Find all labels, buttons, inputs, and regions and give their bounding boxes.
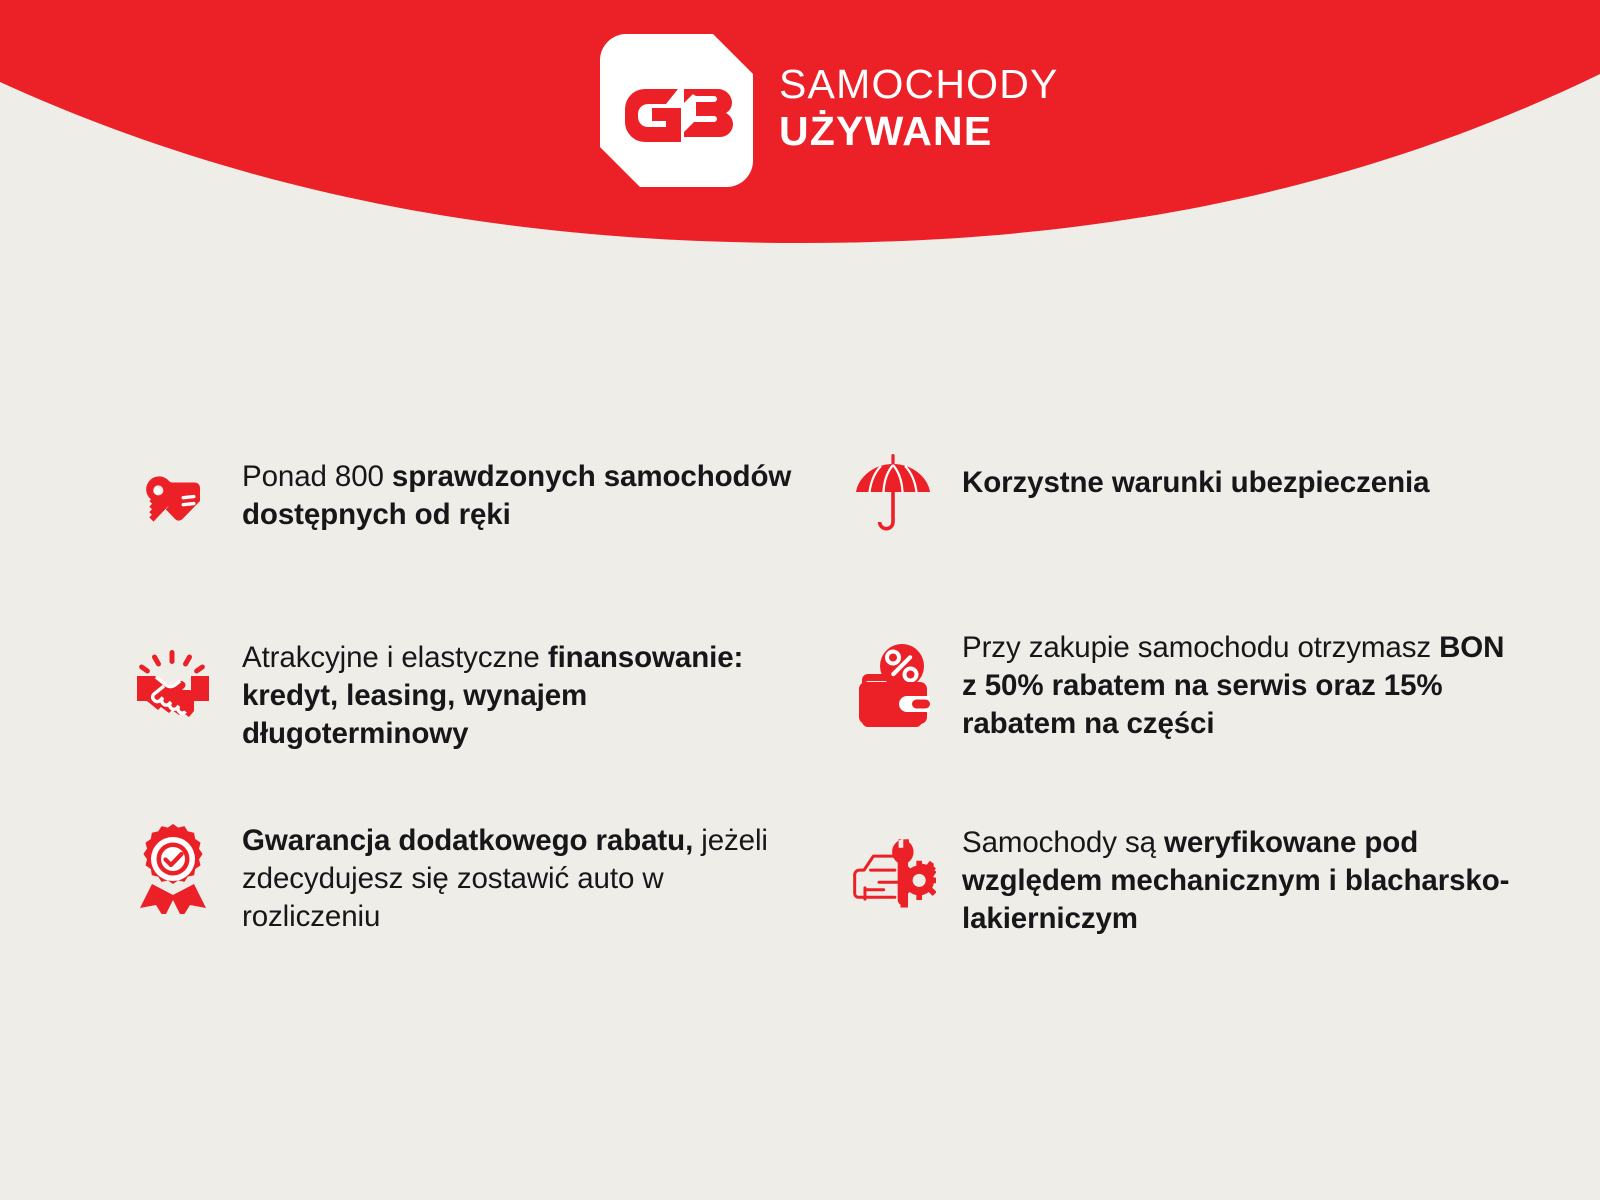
benefit-text-segment: Atrakcyjne i elastyczne [242,641,548,674]
benefit-item: Samochody są weryfikowane pod względem m… [850,810,1570,995]
award-rosette-check-icon [130,820,216,916]
benefit-item: Korzystne warunki ubezpieczenia [850,440,1570,625]
benefit-text-segment: Korzystne warunki ubezpieczenia [962,466,1429,499]
benefit-item: Gwarancja dodatkowego rabatu, jeżeli zde… [130,810,850,995]
benefit-text: Przy zakupie samochodu otrzymasz BON z 5… [962,627,1522,743]
benefit-text-segment: Przy zakupie samochodu otrzymasz [962,631,1439,664]
handshake-icon [130,637,216,733]
gb-logo-mark [600,34,753,187]
benefit-item: Ponad 800 sprawdzonych samochodów dostęp… [130,440,850,625]
benefit-item: Przy zakupie samochodu otrzymasz BON z 5… [850,625,1570,810]
brand-wordmark: SAMOCHODY UŻYWANE [779,64,1059,158]
brand-wordmark-line1: SAMOCHODY [779,64,1059,105]
benefit-text: Atrakcyjne i elastyczne finansowanie: kr… [242,637,802,753]
car-wrench-gear-icon [850,824,936,920]
car-key-with-fob-icon [130,458,216,554]
benefits-column-right: Korzystne warunki ubezpieczenia [850,440,1570,995]
benefit-text: Samochody są weryfikowane pod względem m… [962,822,1522,938]
benefit-item: Atrakcyjne i elastyczne finansowanie: kr… [130,625,850,810]
benefit-text-segment: Ponad 800 [242,460,392,493]
umbrella-icon [850,446,936,542]
gb-logo-icon [600,34,753,187]
benefit-text: Korzystne warunki ubezpieczenia [962,462,1429,502]
benefit-text-segment: Samochody są [962,826,1164,859]
brand-logo-lockup: SAMOCHODY UŻYWANE [600,34,1059,187]
benefit-text: Ponad 800 sprawdzonych samochodów dostęp… [242,456,802,534]
benefit-text: Gwarancja dodatkowego rabatu, jeżeli zde… [242,820,802,936]
benefits-grid: Ponad 800 sprawdzonych samochodów dostęp… [0,440,1600,995]
benefits-column-left: Ponad 800 sprawdzonych samochodów dostęp… [130,440,850,995]
wallet-percent-icon [850,637,936,733]
benefit-text-segment: Gwarancja dodatkowego rabatu, [242,824,701,857]
brand-wordmark-line2: UŻYWANE [779,111,1059,152]
